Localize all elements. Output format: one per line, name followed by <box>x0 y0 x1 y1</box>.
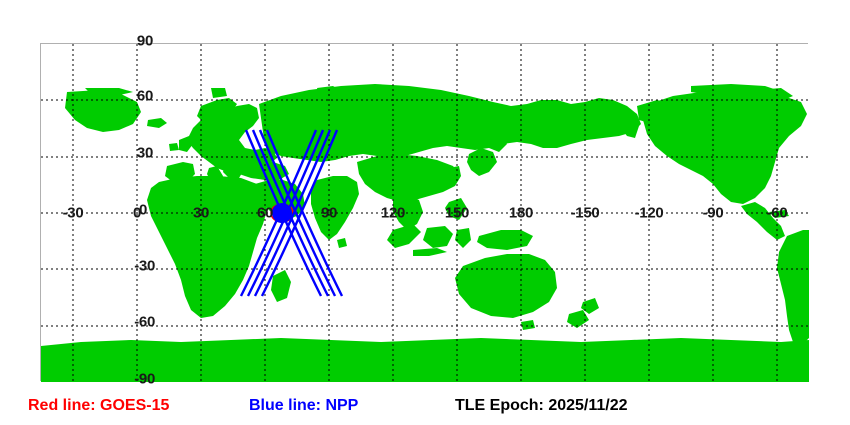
world-map-svg <box>41 44 809 382</box>
legend-tle-epoch: TLE Epoch: 2025/11/22 <box>455 398 628 414</box>
legend-bar: Red line: GOES-15 Blue line: NPP TLE Epo… <box>0 393 850 423</box>
npp-node-marker <box>272 203 292 223</box>
legend-blue-line-npp: Blue line: NPP <box>249 398 358 414</box>
world-map-panel: -30 0 30 60 90 120 150 180 -150 -120 -90… <box>40 43 808 381</box>
screenshot-root: -30 0 30 60 90 120 150 180 -150 -120 -90… <box>0 0 850 425</box>
land-antarctica <box>41 338 809 382</box>
legend-red-line-goes15: Red line: GOES-15 <box>28 398 169 414</box>
